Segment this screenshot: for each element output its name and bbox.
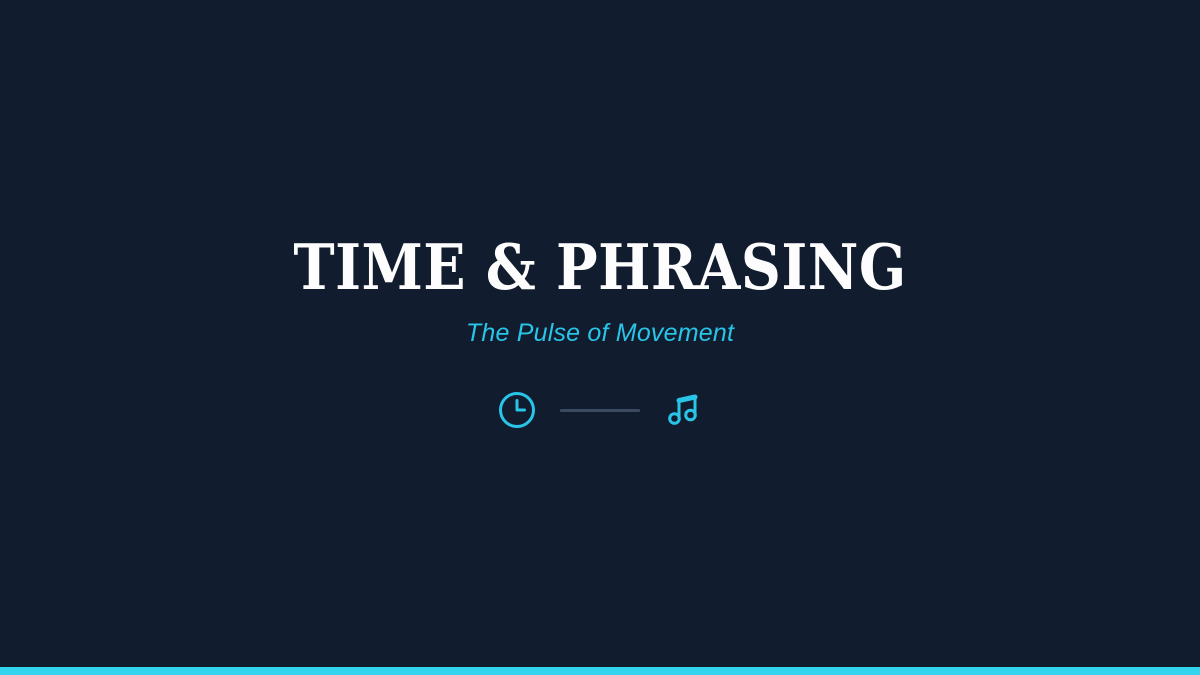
bottom-accent-bar (0, 667, 1200, 675)
clock-icon (496, 389, 538, 431)
music-note-icon (662, 389, 704, 431)
icon-row (0, 389, 1200, 431)
title-block: TIME & PHRASING The Pulse of Movement (0, 236, 1200, 346)
page-title: TIME & PHRASING (72, 236, 1128, 299)
connector-line (560, 409, 640, 412)
title-slide: TIME & PHRASING The Pulse of Movement (0, 0, 1200, 675)
page-subtitle: The Pulse of Movement (0, 299, 1200, 346)
